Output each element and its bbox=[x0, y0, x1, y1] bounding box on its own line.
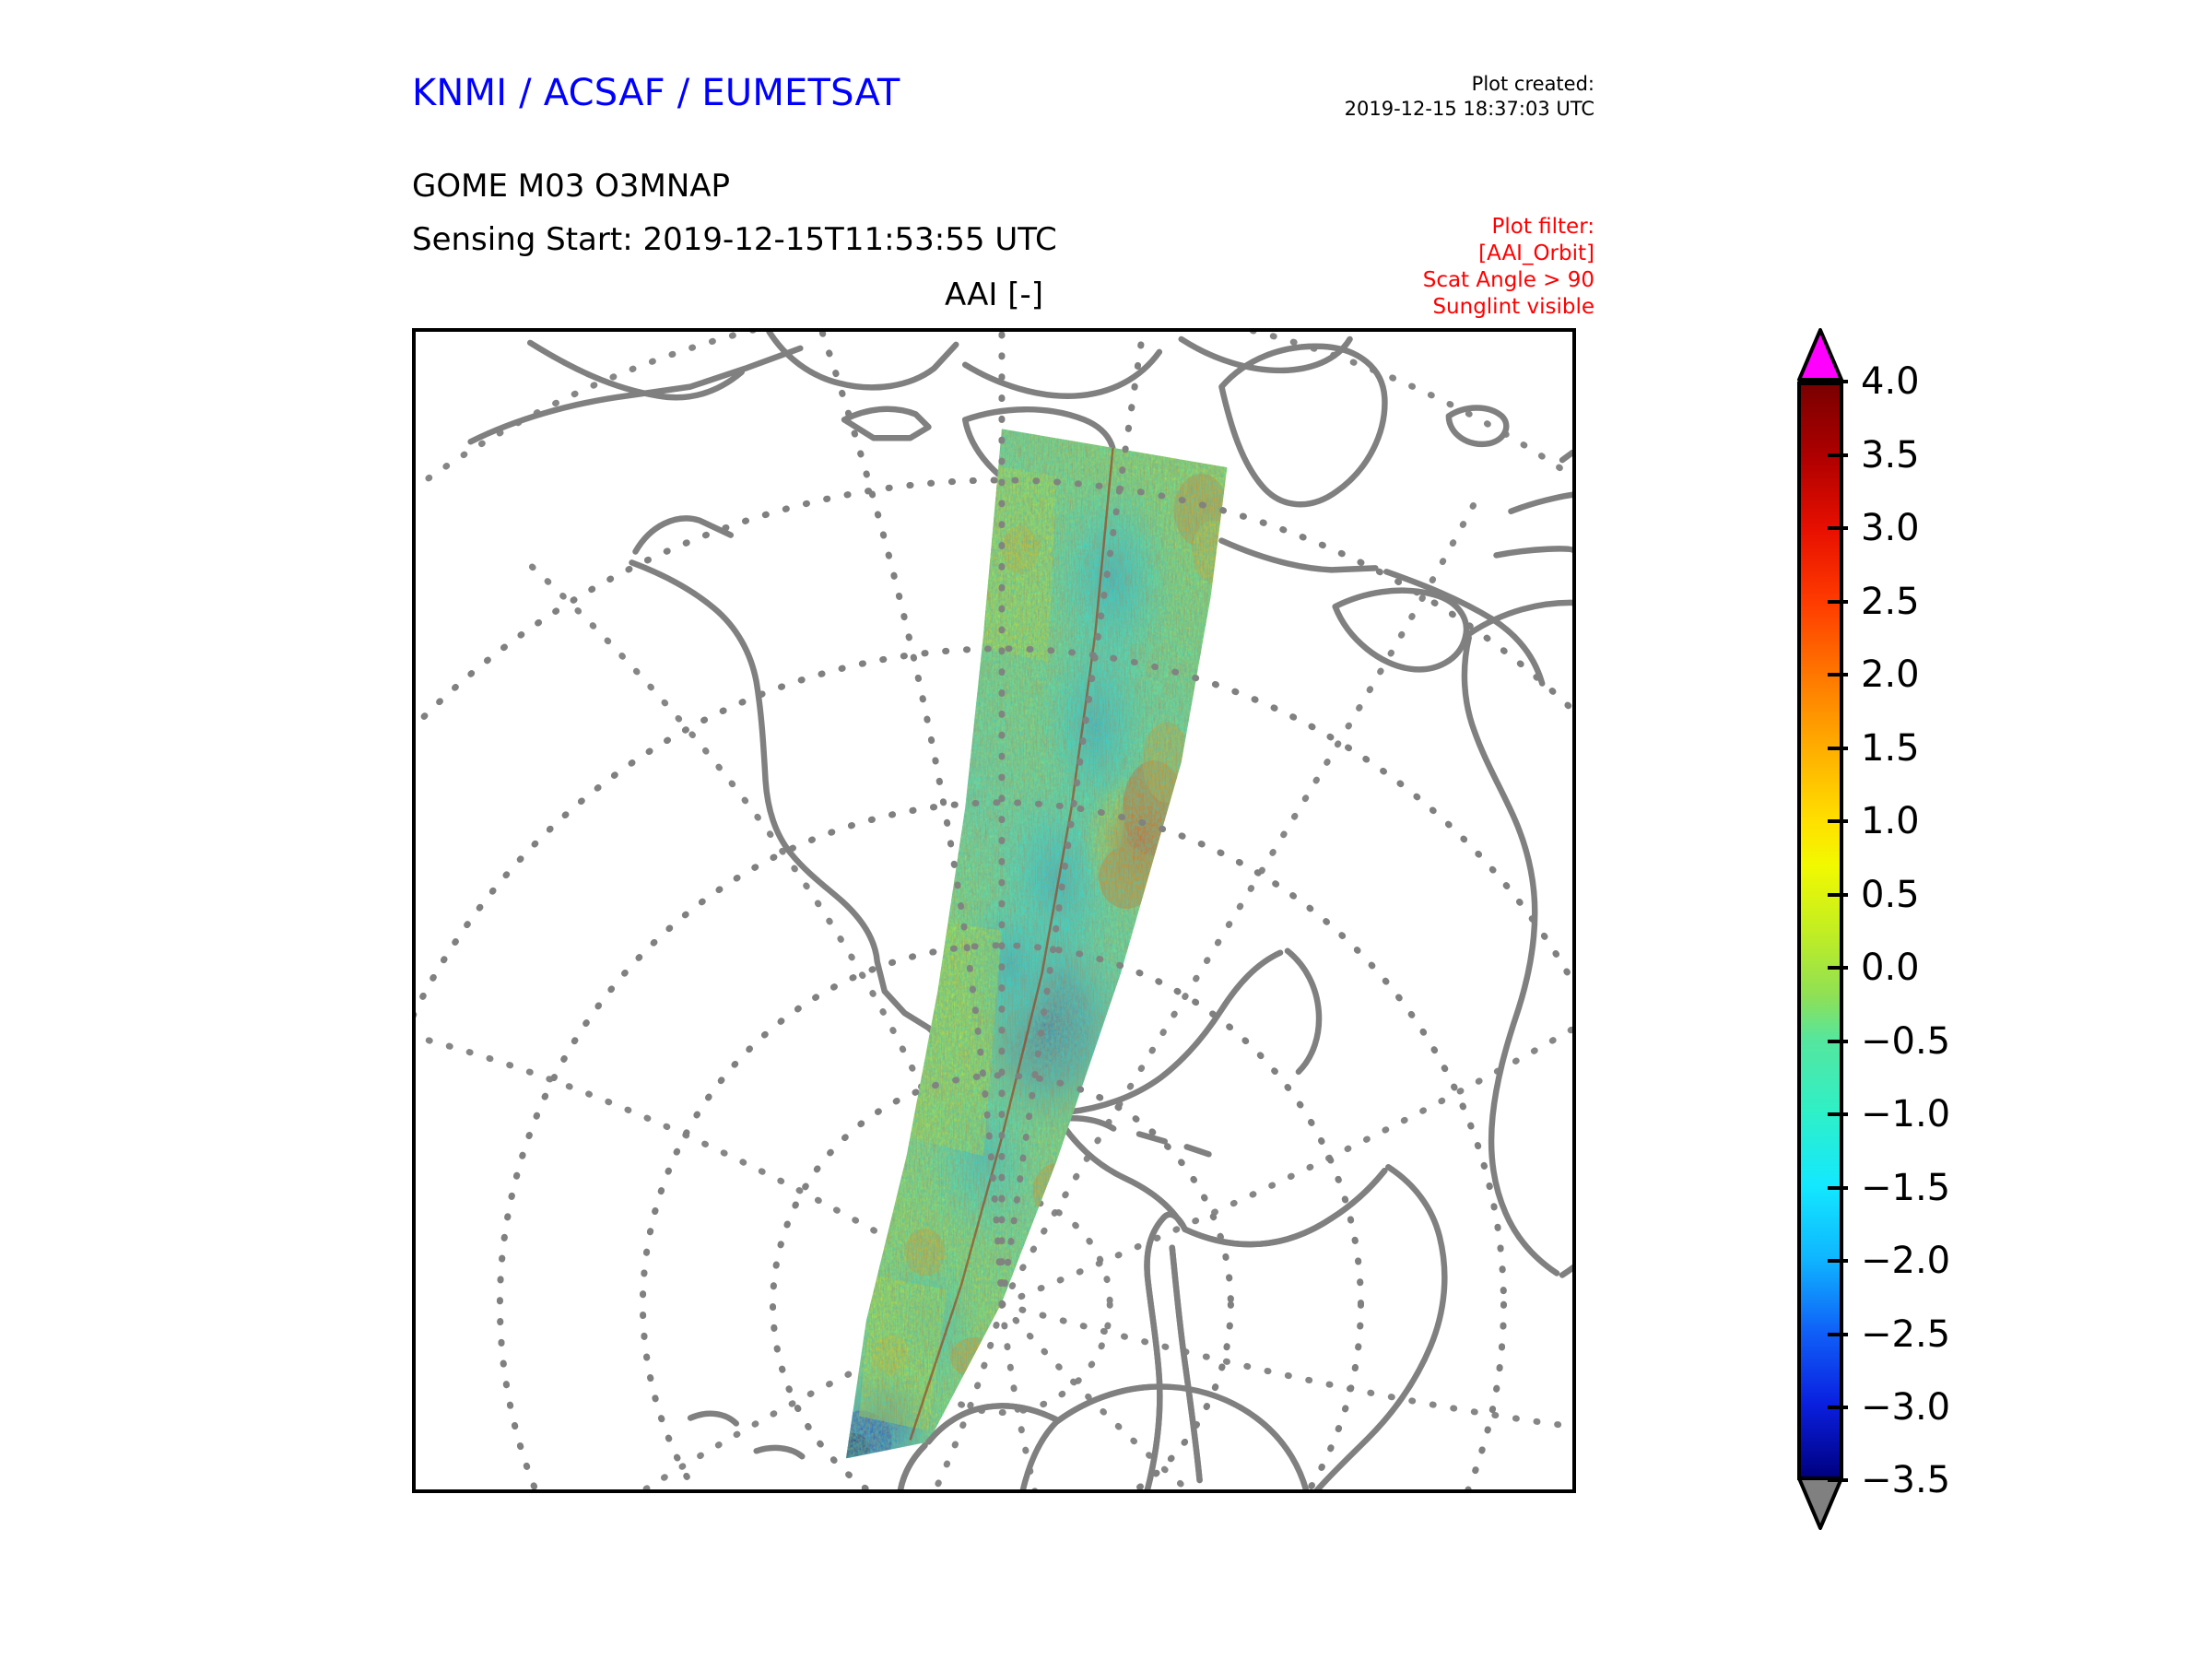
colorbar[interactable]: 4.0 3.5 3.0 2.5 2.0 1.5 1.0 0.5 0.0 −0.5… bbox=[1793, 328, 2180, 1499]
plot-created-timestamp: 2019-12-15 18:37:03 UTC bbox=[1069, 97, 1594, 122]
tick-mark bbox=[1828, 966, 1848, 970]
plot-filter-block: Plot filter: [AAI_Orbit] Scat Angle > 90… bbox=[1226, 214, 1594, 321]
plot-created-block: Plot created: 2019-12-15 18:37:03 UTC bbox=[1069, 72, 1594, 122]
tick-mark bbox=[1828, 673, 1848, 677]
tick-label: −3.0 bbox=[1861, 1382, 1950, 1432]
tick-label: −1.5 bbox=[1861, 1163, 1950, 1213]
map-plot-area[interactable] bbox=[412, 328, 1576, 1493]
tick-mark bbox=[1828, 600, 1848, 604]
tick-label: 3.5 bbox=[1861, 430, 1920, 480]
tick-label: 3.0 bbox=[1861, 503, 1920, 553]
tick-label: −2.5 bbox=[1861, 1310, 1950, 1359]
tick-mark bbox=[1828, 453, 1848, 457]
tick-mark bbox=[1828, 1186, 1848, 1190]
colorbar-under-arrow bbox=[1797, 1477, 1843, 1530]
tick-mark bbox=[1828, 1259, 1848, 1263]
tick-mark bbox=[1828, 1040, 1848, 1043]
tick-label: 1.5 bbox=[1861, 724, 1920, 773]
colorbar-gradient[interactable] bbox=[1797, 382, 1843, 1480]
tick-mark bbox=[1828, 1478, 1848, 1482]
tick-mark bbox=[1828, 1406, 1848, 1409]
tick-mark bbox=[1828, 1112, 1848, 1116]
organisation-title: KNMI / ACSAF / EUMETSAT bbox=[412, 72, 900, 114]
tick-mark bbox=[1828, 1333, 1848, 1336]
plot-filter-scat-angle: Scat Angle > 90 bbox=[1226, 267, 1594, 294]
tick-label: 0.0 bbox=[1861, 943, 1920, 993]
tick-mark bbox=[1828, 747, 1848, 750]
tick-mark bbox=[1828, 819, 1848, 823]
tick-label: −0.5 bbox=[1861, 1017, 1950, 1066]
tick-label: 2.0 bbox=[1861, 650, 1920, 700]
tick-label: 4.0 bbox=[1861, 357, 1920, 406]
tick-label: −3.5 bbox=[1861, 1455, 1950, 1505]
plot-filter-sunglint: Sunglint visible bbox=[1226, 294, 1594, 321]
sensing-start-label: Sensing Start: 2019-12-15T11:53:55 UTC bbox=[412, 221, 1057, 258]
plot-created-label: Plot created: bbox=[1069, 72, 1594, 97]
tick-label: 1.0 bbox=[1861, 796, 1920, 846]
map-canvas bbox=[416, 332, 1572, 1489]
tick-mark bbox=[1828, 526, 1848, 530]
tick-mark bbox=[1828, 380, 1848, 383]
plot-filter-label: Plot filter: bbox=[1226, 214, 1594, 241]
tick-label: −1.0 bbox=[1861, 1089, 1950, 1139]
plot-filter-orbit: [AAI_Orbit] bbox=[1226, 241, 1594, 267]
colorbar-over-arrow bbox=[1797, 328, 1843, 382]
tick-label: −2.0 bbox=[1861, 1236, 1950, 1286]
tick-label: 2.5 bbox=[1861, 577, 1920, 627]
tick-mark bbox=[1828, 893, 1848, 897]
tick-label: 0.5 bbox=[1861, 870, 1920, 920]
product-title: GOME M03 O3MNAP bbox=[412, 168, 730, 205]
